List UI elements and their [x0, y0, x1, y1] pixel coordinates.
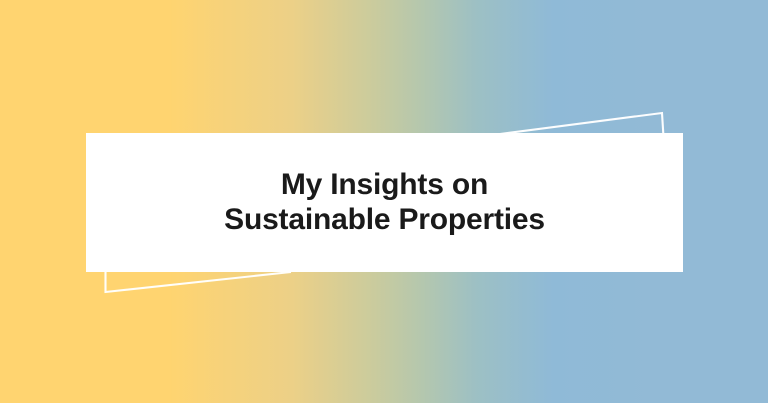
title-line-1: My Insights on [224, 168, 545, 203]
title-banner: My Insights on Sustainable Properties [0, 0, 768, 403]
title-line-2: Sustainable Properties [224, 203, 545, 238]
title-card: My Insights on Sustainable Properties [86, 133, 683, 272]
title-text-block: My Insights on Sustainable Properties [200, 168, 569, 238]
